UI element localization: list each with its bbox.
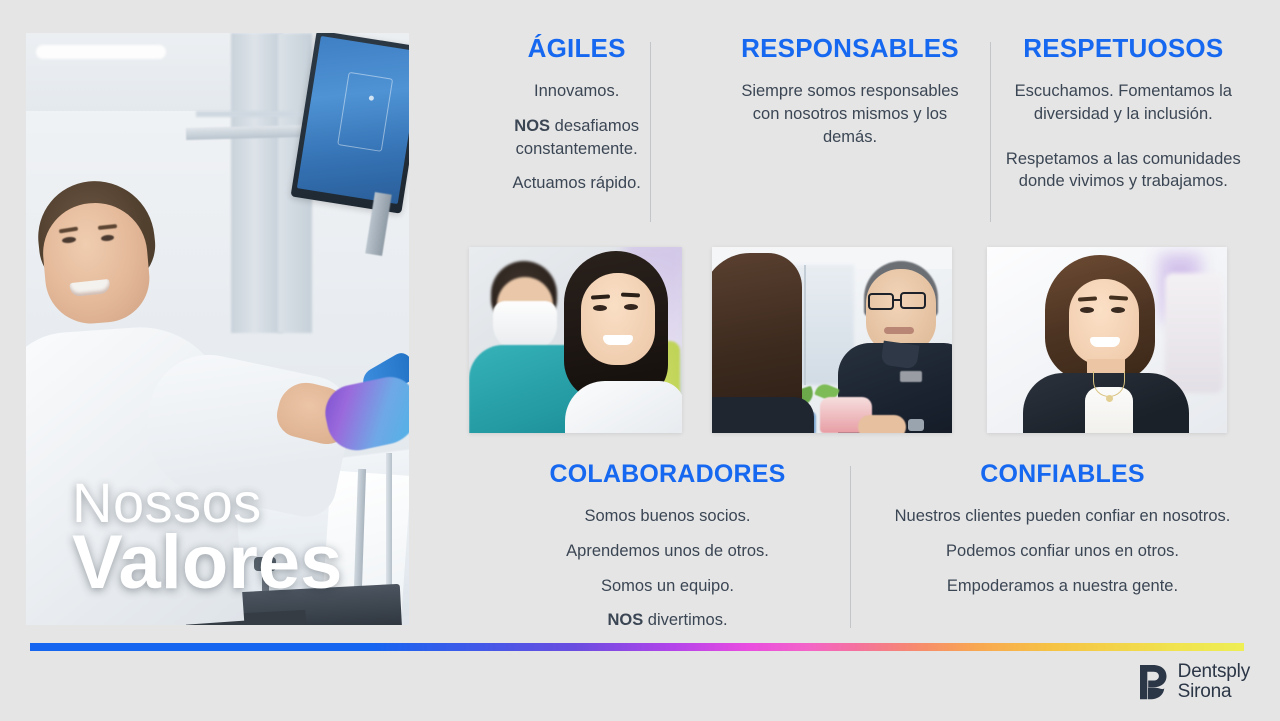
value-line: Respetamos a las comunidades donde vivim…	[1001, 148, 1246, 194]
photo-professional-portrait	[987, 247, 1227, 433]
value-title-agiles: ÁGILES	[454, 33, 699, 64]
values-row-top: ÁGILES Innovamos. NOS desafiamos constan…	[440, 33, 1260, 228]
value-column-respetuosos: RESPETUOSOS Escuchamos. Fomentamos la di…	[987, 33, 1260, 228]
value-body-colaboradores: Somos buenos socios. Aprendemos unos de …	[484, 505, 851, 632]
value-line-emphasis: NOS	[607, 611, 643, 629]
photo-specialist-with-dental-model	[712, 247, 952, 433]
column-divider	[990, 42, 991, 222]
value-line: Podemos confiar unos en otros.	[879, 540, 1246, 563]
value-column-responsables: RESPONSABLES Siempre somos responsables …	[713, 33, 986, 228]
value-line: Aprendemos unos de otros.	[484, 540, 851, 563]
value-line: NOS desafiamos constantemente.	[454, 115, 699, 161]
value-title-respetuosos: RESPETUOSOS	[1001, 33, 1246, 64]
value-line: NOS divertimos.	[484, 609, 851, 632]
value-line: Innovamos.	[454, 80, 699, 103]
dentsply-sirona-mark-icon	[1138, 664, 1168, 700]
value-line: Siempre somos responsables con nosotros …	[727, 80, 972, 148]
value-column-colaboradores: COLABORADORES Somos buenos socios. Apren…	[470, 460, 865, 632]
value-body-responsables: Siempre somos responsables con nosotros …	[727, 80, 972, 148]
value-body-confiables: Nuestros clientes pueden confiar en noso…	[879, 505, 1246, 597]
photo-clinician-and-patient	[469, 247, 682, 433]
value-line: Escuchamos. Fomentamos la diversidad y l…	[1001, 80, 1246, 126]
value-line-emphasis: NOS	[514, 117, 550, 135]
values-row-bottom: COLABORADORES Somos buenos socios. Apren…	[470, 460, 1260, 632]
slide-root: Nossos Valores ÁGILES Innovamos. NOS des…	[0, 0, 1280, 721]
value-body-respetuosos: Escuchamos. Fomentamos la diversidad y l…	[1001, 80, 1246, 193]
hero-title-line-2: Valores	[72, 525, 342, 601]
value-column-confiables: CONFIABLES Nuestros clientes pueden conf…	[865, 460, 1260, 632]
logo-line-2: Sirona	[1178, 682, 1250, 702]
logo-line-1: Dentsply	[1178, 662, 1250, 682]
value-title-confiables: CONFIABLES	[879, 460, 1246, 489]
value-line: Empoderamos a nuestra gente.	[879, 575, 1246, 598]
value-line: Somos buenos socios.	[484, 505, 851, 528]
dentsply-sirona-wordmark: Dentsply Sirona	[1178, 662, 1250, 702]
brand-gradient-bar	[30, 643, 1244, 651]
value-line: Actuamos rápido.	[454, 172, 699, 195]
value-column-agiles: ÁGILES Innovamos. NOS desafiamos constan…	[440, 33, 713, 228]
value-line: Nuestros clientes pueden confiar en noso…	[879, 505, 1246, 528]
column-divider	[650, 42, 651, 222]
value-body-agiles: Innovamos. NOS desafiamos constantemente…	[454, 80, 699, 195]
value-line: Somos un equipo.	[484, 575, 851, 598]
hero-image: Nossos Valores	[26, 33, 409, 625]
value-title-responsables: RESPONSABLES	[727, 33, 972, 64]
hero-title: Nossos Valores	[72, 475, 342, 601]
dentsply-sirona-logo: Dentsply Sirona	[1138, 662, 1250, 702]
value-title-colaboradores: COLABORADORES	[484, 460, 851, 489]
